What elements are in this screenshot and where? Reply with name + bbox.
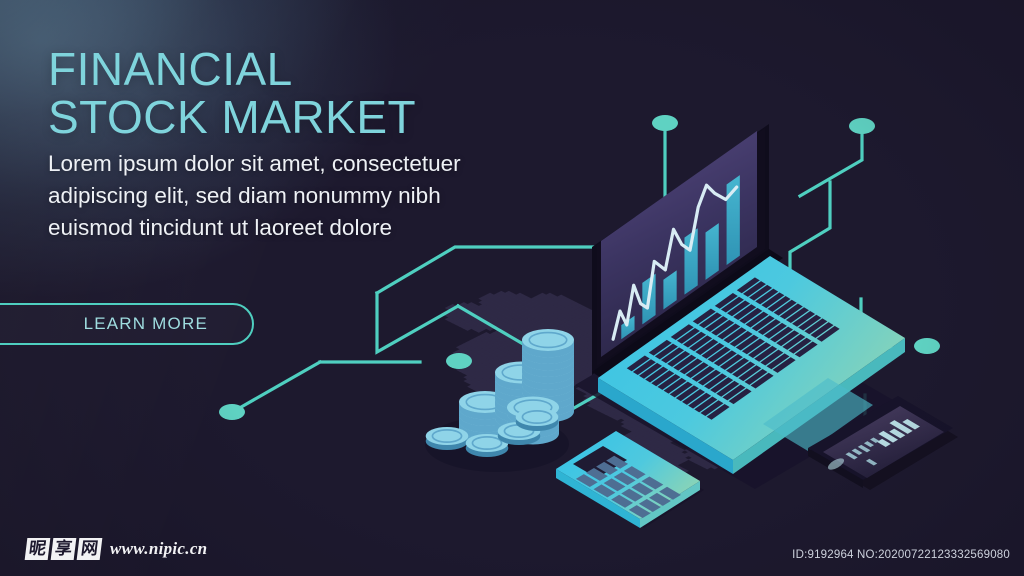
- page-title: FINANCIAL STOCK MARKET: [48, 45, 416, 141]
- asset-id-stamp: ID:9192964 NO:20200722123332569080: [792, 549, 1010, 561]
- body-paragraph: Lorem ipsum dolor sit amet, consectetuer…: [48, 148, 518, 244]
- site-url: www.nipic.cn: [110, 539, 207, 559]
- site-watermark: 昵享网 www.nipic.cn: [26, 538, 207, 560]
- learn-more-button[interactable]: LEARN MORE: [0, 303, 254, 345]
- nipic-logo-icon: 昵享网: [26, 538, 101, 560]
- learn-more-label: LEARN MORE: [84, 314, 208, 334]
- banner-root: FINANCIAL STOCK MARKET Lorem ipsum dolor…: [0, 0, 1024, 576]
